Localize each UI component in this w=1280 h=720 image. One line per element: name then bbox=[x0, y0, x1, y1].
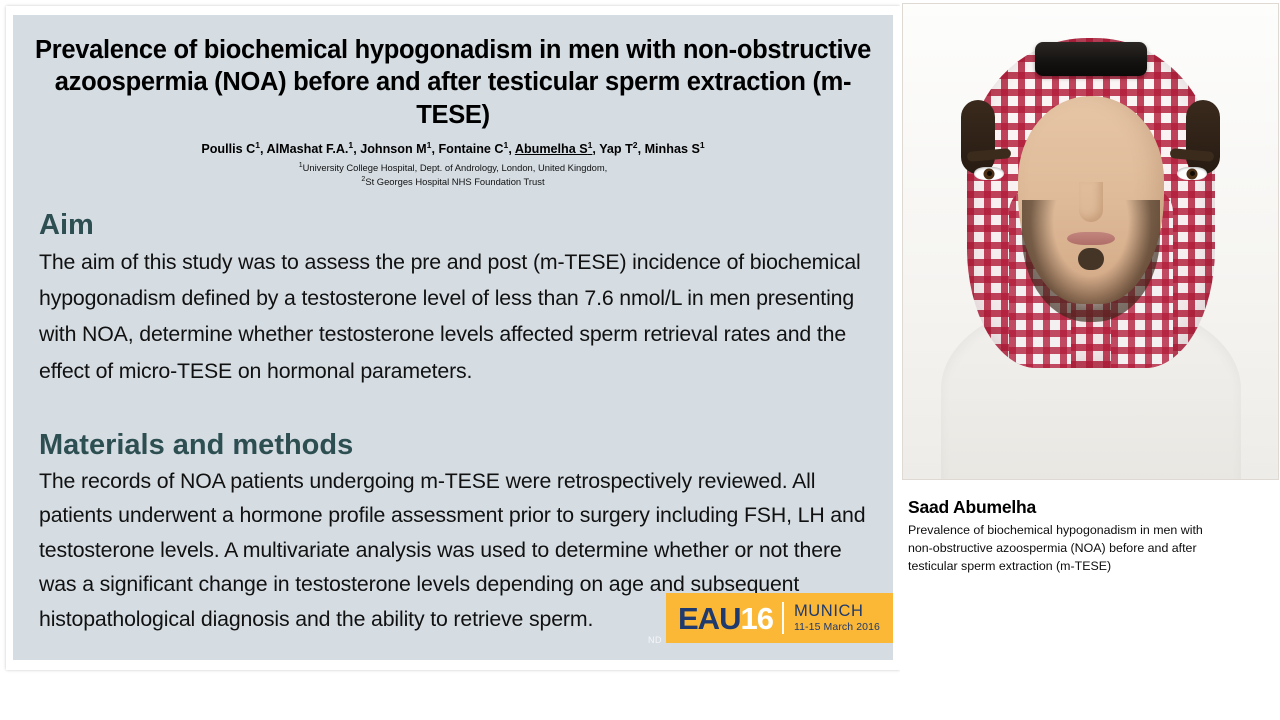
author-0: Poullis C1 bbox=[201, 142, 260, 156]
author-4-presenting: Abumelha S1 bbox=[515, 142, 593, 156]
speaker-talk-title-line-1: Prevalence of biochemical hypogonadism i… bbox=[908, 522, 1268, 540]
author-2: Johnson M1 bbox=[360, 142, 431, 156]
eau16-wordmark: EAU16 bbox=[678, 603, 773, 634]
agal-headband bbox=[1035, 42, 1147, 76]
iris-left bbox=[984, 168, 995, 179]
author-3-sup: 1 bbox=[504, 140, 509, 150]
slide-title-line-2: azoospermia (NOA) before and after testi… bbox=[25, 66, 881, 131]
author-6: Minhas S1 bbox=[645, 142, 705, 156]
eau16-divider bbox=[782, 602, 784, 634]
eau16-dates: 11-15 March 2016 bbox=[794, 622, 880, 633]
author-6-sup: 1 bbox=[700, 140, 705, 150]
speaker-talk-title: Prevalence of biochemical hypogonadism i… bbox=[908, 522, 1268, 576]
mouth bbox=[1067, 232, 1115, 245]
author-5-sup: 2 bbox=[633, 140, 638, 150]
slide-affiliations: 1University College Hospital, Dept. of A… bbox=[23, 161, 883, 189]
presentation-viewer: Prevalence of biochemical hypogonadism i… bbox=[0, 0, 1280, 720]
author-1-sup: 1 bbox=[348, 140, 353, 150]
author-3: Fontaine C1 bbox=[438, 142, 508, 156]
eau16-venue-block: MUNICH 11-15 March 2016 bbox=[794, 603, 880, 633]
eau16-prefix: EAU bbox=[678, 603, 740, 634]
speaker-talk-title-line-2: non-obstructive azoospermia (NOA) before… bbox=[908, 540, 1268, 558]
slide-authors: Poullis C1, AlMashat F.A.1, Johnson M1, … bbox=[23, 140, 883, 158]
eye-left bbox=[974, 167, 1004, 180]
section-materials-and-methods-heading: Materials and methods bbox=[39, 430, 867, 460]
author-2-sup: 1 bbox=[427, 140, 432, 150]
hair-right bbox=[1186, 100, 1220, 174]
speaker-panel: Saad Abumelha Prevalence of biochemical … bbox=[900, 0, 1280, 720]
section-aim-body: The aim of this study was to assess the … bbox=[39, 244, 867, 390]
speaker-photo-frame bbox=[902, 3, 1279, 480]
section-aim: Aim The aim of this study was to assess … bbox=[39, 210, 867, 389]
speaker-headshot-image bbox=[903, 4, 1278, 479]
iris-right bbox=[1187, 168, 1198, 179]
slide-watermark: ND bbox=[648, 635, 662, 645]
speaker-talk-title-line-3: testicular sperm extraction (m-TESE) bbox=[908, 558, 1268, 576]
affiliation-1: 1University College Hospital, Dept. of A… bbox=[23, 161, 883, 175]
eau16-year: 16 bbox=[740, 603, 772, 634]
affiliation-2: 2St Georges Hospital NHS Foundation Trus… bbox=[23, 175, 883, 189]
nose bbox=[1079, 182, 1103, 222]
goatee bbox=[1078, 248, 1104, 270]
speaker-name: Saad Abumelha bbox=[908, 497, 1036, 518]
hair-left bbox=[961, 100, 995, 174]
author-5: Yap T2 bbox=[599, 142, 637, 156]
slide-title-line-1: Prevalence of biochemical hypogonadism i… bbox=[25, 34, 881, 66]
slide-title: Prevalence of biochemical hypogonadism i… bbox=[25, 34, 881, 131]
slide-viewer[interactable]: Prevalence of biochemical hypogonadism i… bbox=[6, 6, 900, 670]
author-4-sup: 1 bbox=[588, 140, 593, 150]
author-0-sup: 1 bbox=[255, 140, 260, 150]
slide-canvas[interactable]: Prevalence of biochemical hypogonadism i… bbox=[13, 15, 893, 660]
eau16-city: MUNICH bbox=[794, 603, 880, 620]
eye-right bbox=[1177, 167, 1207, 180]
section-aim-heading: Aim bbox=[39, 210, 867, 240]
author-1: AlMashat F.A.1 bbox=[267, 142, 354, 156]
eau16-congress-logo: EAU16 MUNICH 11-15 March 2016 bbox=[666, 593, 893, 643]
